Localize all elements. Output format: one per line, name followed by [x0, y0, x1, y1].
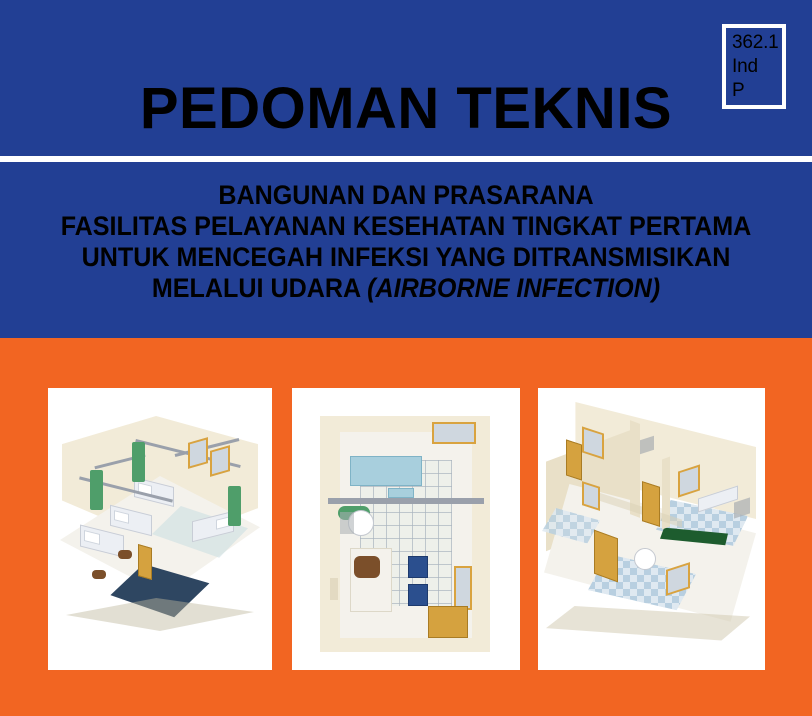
subtitle-line-3: UNTUK MENCEGAH INFEKSI YANG DITRANSMISIK… — [28, 242, 783, 273]
figure-panel-1 — [48, 388, 272, 670]
figure-3-illustration — [538, 388, 765, 670]
call-number-line-2: Ind — [732, 55, 782, 79]
subtitle-line-2: FASILITAS PELAYANAN KESEHATAN TINGKAT PE… — [28, 211, 783, 242]
subtitle-line-1: BANGUNAN DAN PRASARANA — [28, 180, 783, 211]
subtitle-line-4: MELALUI UDARA (AIRBORNE INFECTION) — [28, 273, 783, 304]
figure-panel-2 — [292, 388, 520, 670]
figure-panel-3 — [538, 388, 765, 670]
book-cover: 362.1 Ind P PEDOMAN TEKNIS BANGUNAN DAN … — [0, 0, 812, 716]
figure-2-illustration — [292, 388, 520, 670]
page-title: PEDOMAN TEKNIS — [0, 78, 812, 140]
call-number-line-1: 362.1 — [732, 31, 782, 55]
subtitle-line-4-plain: MELALUI UDARA — [152, 273, 367, 303]
figure-row — [0, 388, 812, 670]
figure-1-illustration — [48, 388, 272, 670]
subtitle-block: BANGUNAN DAN PRASARANA FASILITAS PELAYAN… — [0, 180, 812, 304]
subtitle-line-4-italic: (AIRBORNE INFECTION) — [367, 273, 660, 303]
